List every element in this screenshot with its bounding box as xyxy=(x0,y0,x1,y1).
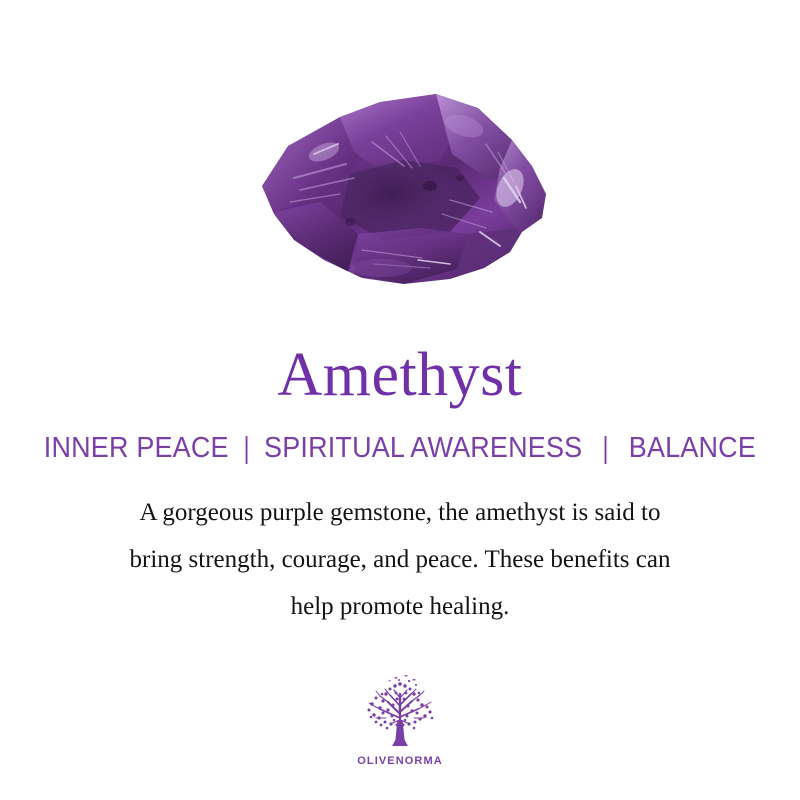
amethyst-crystal-icon xyxy=(254,82,554,297)
keyword-spiritual-awareness: SPIRITUAL AWARENESS xyxy=(262,432,584,465)
product-info-card: Amethyst INNER PEACE SPIRITUAL AWARENESS… xyxy=(0,0,800,800)
keyword-separator xyxy=(246,436,248,464)
description-text: A gorgeous purple gemstone, the amethyst… xyxy=(50,489,750,630)
keyword-balance: BALANCE xyxy=(627,432,758,465)
description-line: help promote healing. xyxy=(50,583,750,630)
description-line: bring strength, courage, and peace. Thes… xyxy=(50,536,750,583)
tree-icon xyxy=(352,674,448,752)
description-line: A gorgeous purple gemstone, the amethyst… xyxy=(50,489,750,536)
keyword-separator xyxy=(605,436,607,464)
brand-name: OLIVENORMA xyxy=(357,755,443,767)
gemstone-image-area xyxy=(0,0,800,300)
keyword-inner-peace: INNER PEACE xyxy=(42,432,231,465)
keyword-list: INNER PEACE SPIRITUAL AWARENESS BALANCE xyxy=(42,432,758,465)
page-title: Amethyst xyxy=(277,344,522,406)
brand-logo: OLIVENORMA xyxy=(352,674,448,767)
amethyst-crystal xyxy=(254,82,554,297)
